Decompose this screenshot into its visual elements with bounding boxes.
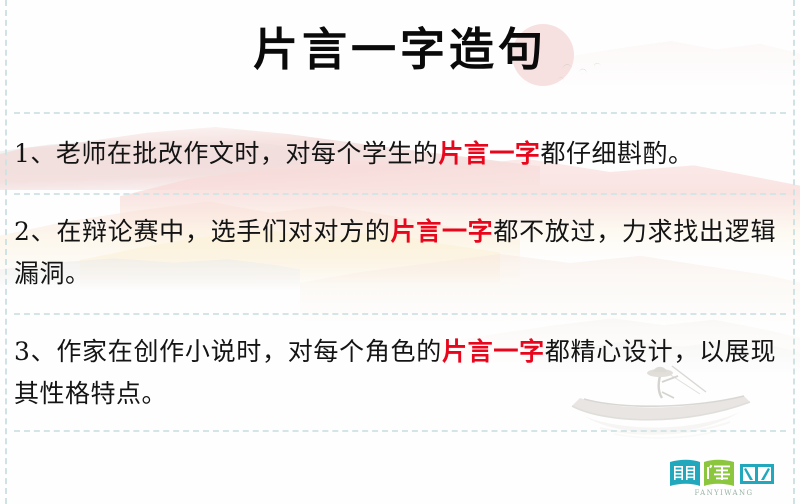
sentence-3-keyword: 片言一字: [442, 337, 545, 366]
page-title: 片言一字造句: [0, 21, 800, 79]
fanyiwang-logo-icon: [666, 456, 782, 488]
example-sentence-3: 3、作家在创作小说时，对每个角色的片言一字都精心设计，以展现其性格特点。: [14, 331, 776, 415]
logo-subtitle: FANYIWANG: [666, 489, 782, 498]
site-logo[interactable]: FANYIWANG: [666, 456, 782, 500]
sentence-1-keyword: 片言一字: [438, 139, 540, 168]
sentence-1-before: 老师在批改作文时，对每个学生的: [56, 139, 439, 168]
sentence-2-keyword: 片言一字: [391, 217, 494, 246]
example-sentence-2: 2、在辩论赛中，选手们对对方的片言一字都不放过，力求找出逻辑漏洞。: [14, 211, 776, 295]
sentence-1-after: 都仔细斟酌。: [540, 139, 693, 168]
sentence-2-before: 在辩论赛中，选手们对对方的: [56, 217, 390, 246]
sentence-2-index: 2、: [14, 217, 56, 246]
sentence-3-before: 作家在创作小说时，对每个角色的: [56, 337, 442, 366]
page-root: 片言一字造句 1、老师在批改作文时，对每个学生的片言一字都仔细斟酌。 2、在辩论…: [0, 0, 800, 504]
content-area: 片言一字造句 1、老师在批改作文时，对每个学生的片言一字都仔细斟酌。 2、在辩论…: [0, 0, 800, 504]
sentence-3-index: 3、: [14, 337, 56, 366]
example-sentence-1: 1、老师在批改作文时，对每个学生的片言一字都仔细斟酌。: [14, 133, 776, 175]
sentence-1-index: 1、: [14, 139, 56, 168]
